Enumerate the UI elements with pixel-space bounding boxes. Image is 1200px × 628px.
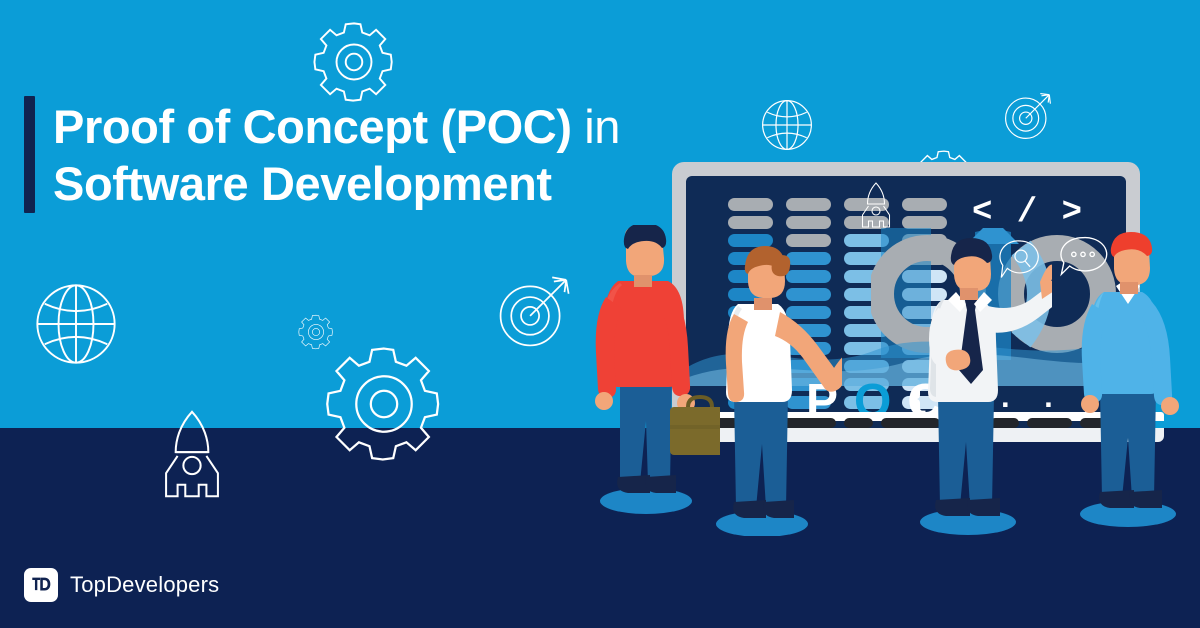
person-man-blue-sweater bbox=[1072, 232, 1200, 528]
headline-line-1-strong: Proof of Concept (POC) bbox=[53, 100, 572, 153]
globe-icon bbox=[30, 278, 122, 370]
gear-icon bbox=[308, 16, 400, 108]
headline-line-1-light: in bbox=[572, 100, 620, 153]
rocket-icon bbox=[158, 406, 226, 502]
logo-mark-icon bbox=[24, 568, 58, 602]
headline-accent-bar bbox=[24, 96, 35, 213]
globe-icon bbox=[758, 96, 816, 154]
person-man-red-sweater bbox=[590, 225, 720, 515]
td-monogram-icon bbox=[30, 574, 52, 596]
person-woman-white-top bbox=[712, 246, 842, 536]
headline-block: Proof of Concept (POC) in Software Devel… bbox=[24, 96, 724, 213]
gear-icon bbox=[318, 338, 450, 470]
poster-canvas: Proof of Concept (POC) in Software Devel… bbox=[0, 0, 1200, 628]
logo-text: TopDevelopers bbox=[70, 572, 219, 598]
headline-line-1: Proof of Concept (POC) in bbox=[53, 98, 620, 155]
page-title: Proof of Concept (POC) in Software Devel… bbox=[53, 96, 620, 213]
target-icon bbox=[1000, 88, 1056, 144]
headline-line-2: Software Development bbox=[53, 155, 620, 212]
person-man-white-shirt-tie bbox=[912, 238, 1052, 536]
brand-logo[interactable]: TopDevelopers bbox=[24, 568, 219, 602]
target-icon bbox=[494, 270, 576, 352]
rocket-icon bbox=[858, 180, 894, 230]
code-tag-icon: < / > bbox=[972, 194, 1084, 232]
